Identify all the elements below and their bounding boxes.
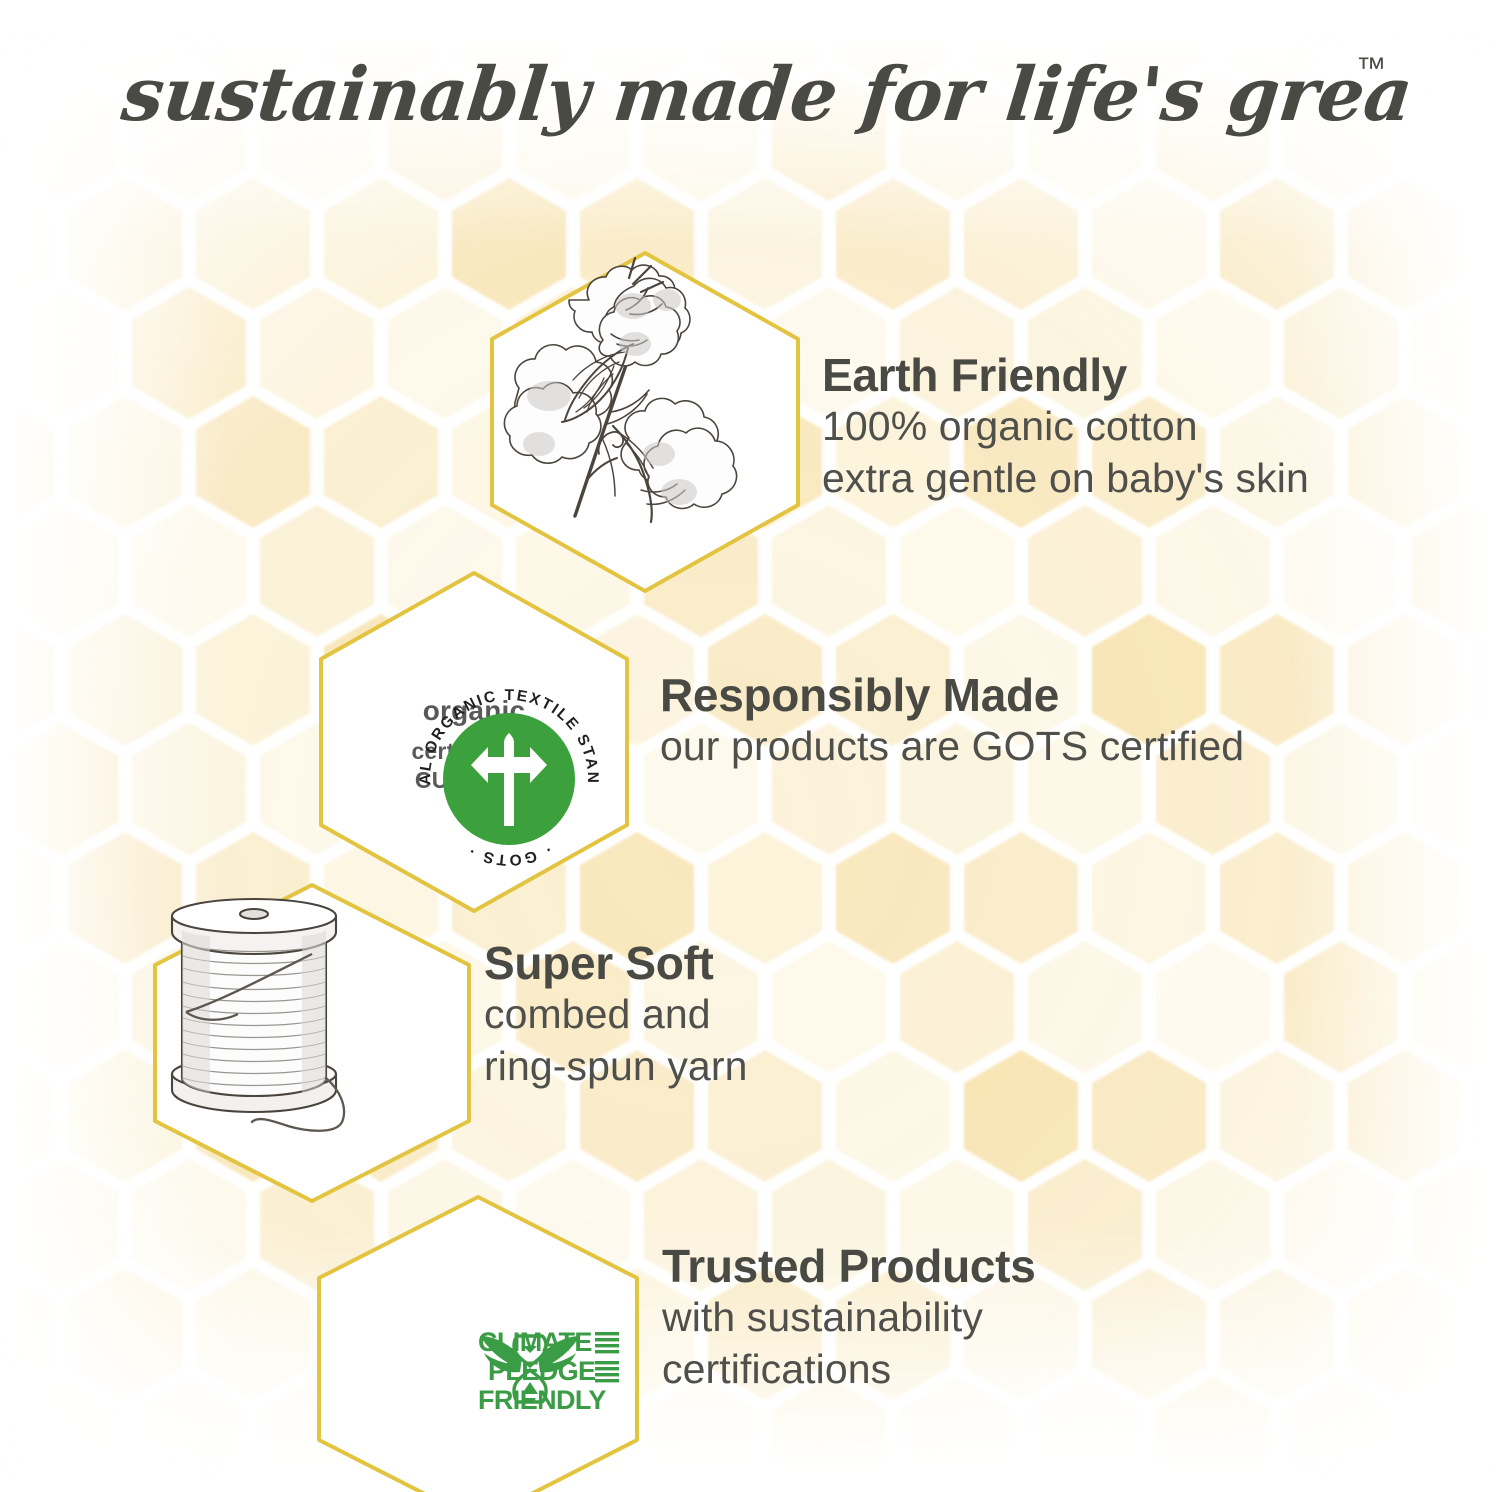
infographic-canvas: sustainably made for life's greatest joy… [0,0,1500,1492]
feature-line-1: combed and [484,989,747,1041]
feature-heading: Trusted Products [662,1240,1036,1292]
feature-text-super-soft: Super Soft combed and ring-spun yarn [484,937,747,1093]
feature-hex-card-earth-friendly [483,248,807,596]
feature-line-1: our products are GOTS certified [660,721,1244,773]
feature-hex-card-super-soft [146,880,478,1206]
tagline: sustainably made for life's greatest joy… [120,42,1410,152]
feature-text-responsibly-made: Responsibly Made our products are GOTS c… [660,669,1244,773]
feature-heading: Super Soft [484,937,747,989]
svg-text:sustainably made for life's gr: sustainably made for life's greatest joy [120,51,1410,138]
feature-text-earth-friendly: Earth Friendly 100% organic cotton extra… [822,349,1309,505]
feature-line-2: ring-spun yarn [484,1041,747,1093]
feature-hex-card-trusted-products: CLIMATE PLEDGE FRIENDLY [310,1192,646,1492]
cotton-branch-icon [483,248,745,526]
svg-text:™: ™ [1356,52,1386,85]
feature-line-1: with sustainability [662,1292,1036,1344]
feature-line-2: certifications [662,1344,1036,1396]
tagline-script-text: sustainably made for life's greatest joy… [120,42,1410,152]
feature-heading: Earth Friendly [822,349,1309,401]
feature-line-2: extra gentle on baby's skin [822,453,1309,505]
feature-hex-card-responsibly-made: GLOBAL ORGANIC TEXTILE STANDARD · GOTS ·… [312,568,636,916]
thread-spool-icon [142,882,378,1134]
winged-hourglass-icon [478,1326,582,1412]
feature-line-1: 100% organic cotton [822,401,1309,453]
feature-text-trusted-products: Trusted Products with sustainability cer… [662,1240,1036,1396]
feature-heading: Responsibly Made [660,669,1244,721]
gots-certification-icon: GLOBAL ORGANIC TEXTILE STANDARD · GOTS · [411,681,607,877]
